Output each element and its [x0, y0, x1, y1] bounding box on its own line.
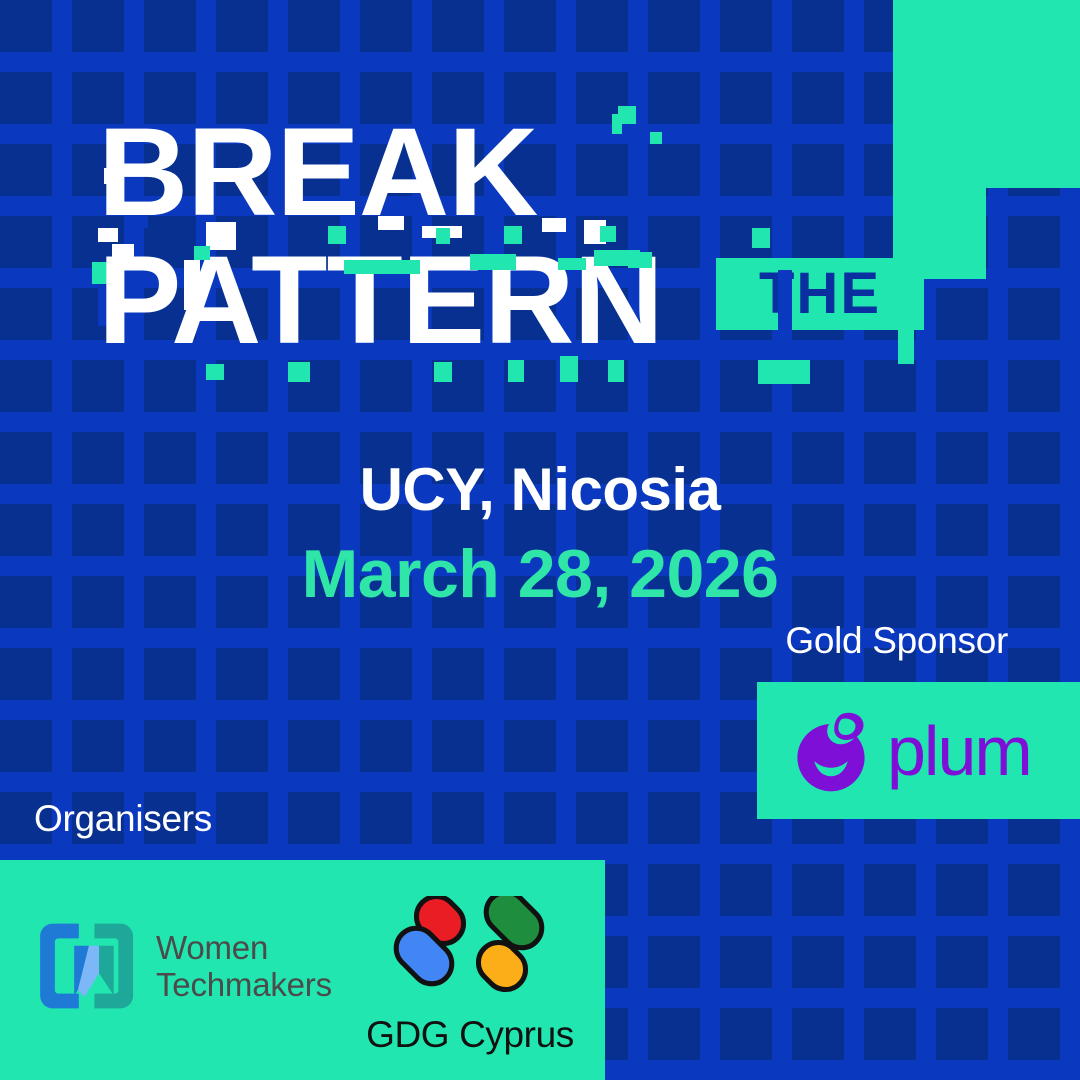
glitch-square: [628, 252, 652, 268]
date-text: March 28, 2026: [0, 535, 1080, 613]
organisers-label: Organisers: [34, 798, 212, 840]
organiser-gdg-cyprus: GDG Cyprus: [360, 896, 580, 1056]
venue-text: UCY, Nicosia: [0, 455, 1080, 524]
organiser-name-line-2: Techmakers: [156, 966, 332, 1003]
glitch-square: [608, 360, 624, 382]
gdg-logo-icon: [385, 896, 555, 1000]
glitch-square: [560, 356, 578, 382]
glitch-square: [434, 362, 452, 382]
glitch-square: [184, 260, 200, 310]
gold-sponsor-name: plum: [887, 716, 1031, 786]
gold-sponsor-card: plum: [757, 682, 1080, 819]
organiser-name: GDG Cyprus: [360, 1014, 580, 1056]
glitch-square: [558, 258, 586, 270]
headline-highlight-box: THE: [716, 258, 924, 330]
headline-line-2: PATTERN: [98, 238, 663, 363]
plum-logo-icon: [789, 709, 873, 793]
glitch-square: [898, 262, 914, 364]
glitch-square: [378, 216, 404, 230]
women-techmakers-logo-icon: [36, 920, 140, 1012]
glitch-square: [470, 254, 516, 270]
organisers-card: Women Techmakers GDG Cyprus: [0, 860, 605, 1080]
organiser-name: Women Techmakers: [156, 929, 332, 1003]
organiser-name-line-1: Women: [156, 929, 332, 966]
glitch-square: [650, 132, 662, 144]
glitch-square: [758, 360, 810, 384]
glitch-square: [752, 228, 770, 248]
glitch-square: [508, 360, 524, 382]
headline-line-1: BREAK: [98, 110, 537, 235]
event-poster: BREAK THE PATTERN: [0, 0, 1080, 1080]
glitch-square: [778, 270, 792, 354]
glitch-square: [194, 246, 210, 260]
glitch-square: [542, 218, 566, 232]
glitch-square: [344, 260, 420, 274]
gold-sponsor-label: Gold Sponsor: [785, 620, 1008, 662]
glitch-square: [288, 362, 310, 382]
glitch-square: [612, 114, 622, 134]
glitch-square: [206, 364, 224, 380]
headline-group: BREAK THE PATTERN: [98, 110, 998, 410]
organiser-women-techmakers: Women Techmakers: [36, 920, 332, 1012]
